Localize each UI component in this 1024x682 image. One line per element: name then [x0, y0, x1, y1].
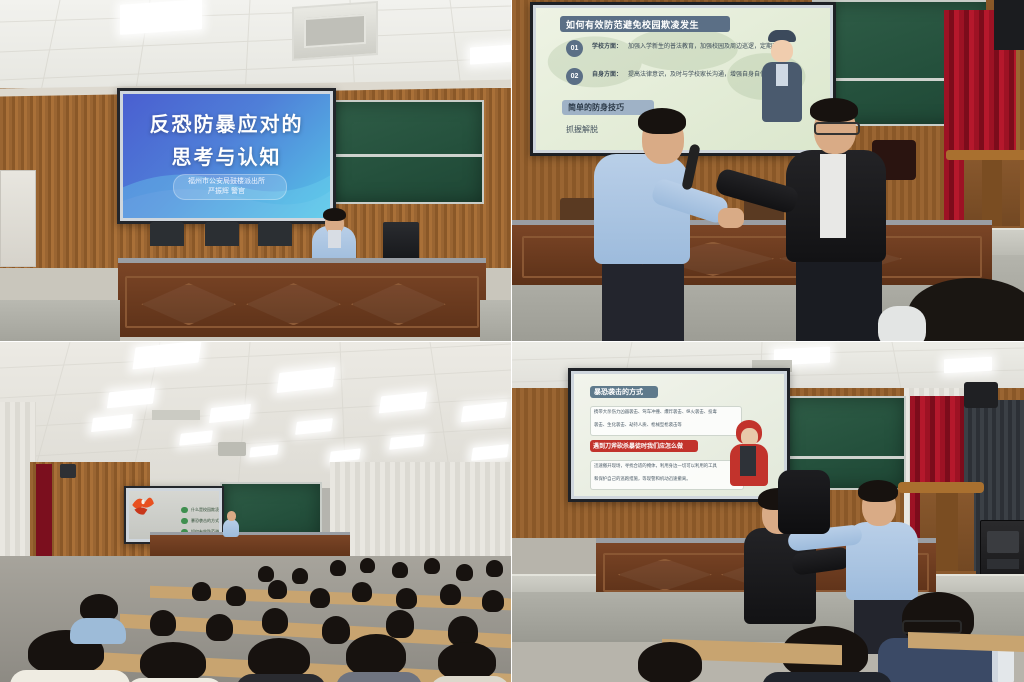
officer-leg — [602, 258, 642, 341]
student-head — [456, 564, 473, 581]
student-head — [268, 580, 287, 599]
student-foreground — [126, 642, 224, 682]
slide-title: 暴恐袭击的方式 — [594, 387, 643, 397]
student-head — [486, 560, 503, 577]
floor — [0, 300, 120, 341]
slide-bullet: 暴恐袭击的方式 — [191, 518, 219, 524]
ceiling-vent — [152, 410, 200, 420]
backpack-shield — [778, 470, 830, 534]
photo-collage: 反恐防暴应对的 思考与认知 福州市公安局鼓楼派出所 严振辉 警官 — [0, 0, 1024, 682]
volunteer-glasses — [814, 122, 860, 135]
slide-subtitle-line1: 福州市公安局鼓楼派出所 — [123, 176, 330, 186]
attacker-illustration — [728, 420, 770, 496]
student-head — [150, 610, 176, 636]
wall-monitor — [994, 0, 1024, 50]
officer-hair — [323, 208, 346, 221]
chair — [205, 222, 239, 246]
ceiling-light — [944, 357, 992, 374]
face-mask — [878, 306, 926, 341]
student-foreground — [430, 642, 510, 682]
bullet-marker — [181, 518, 188, 524]
wall-speaker — [60, 464, 76, 478]
person-officer-demonstrating — [590, 108, 740, 341]
student-head — [330, 560, 346, 576]
slide-subtitle-line2: 严振辉 警官 — [123, 186, 330, 196]
stage-curtain — [36, 464, 52, 560]
student-head — [226, 586, 246, 606]
student-head — [206, 614, 233, 641]
officer-hand — [718, 208, 744, 228]
student-head — [292, 568, 308, 584]
volunteer-hair — [810, 98, 858, 122]
slide-item-label: 自身方面： — [592, 69, 622, 78]
photo-panel-top-right: 如何有效防范避免校园欺凌发生 01 学校方面： 加强入学新生的普法教育，加强校园… — [512, 0, 1024, 341]
slide-highlight-text: 遇到刀斧砍杀暴徒时我们应怎么做 — [593, 441, 683, 450]
chair — [258, 222, 292, 246]
bullet-marker — [181, 507, 188, 513]
slide-bottom-right: 暴恐袭击的方式 携带大杀伤力凶器袭击、驾车冲撞、爆炸袭击、纵火袭击、投毒 袭击、… — [574, 374, 784, 496]
student-head — [482, 590, 504, 612]
slide-item-label: 学校方面： — [592, 41, 622, 50]
slide-body-line: 迅速撤开现场，寻找合适的掩体，利用身边一切可以利用的工具 — [594, 463, 717, 469]
floor — [480, 300, 511, 341]
slide-body-line: 携带大杀伤力凶器袭击、驾车冲撞、爆炸袭击、纵火袭击、投毒 — [594, 409, 717, 415]
student-head — [360, 558, 375, 573]
student-head — [440, 584, 461, 605]
student-head — [258, 566, 274, 582]
student-foreground — [622, 642, 718, 682]
person-speaker-distant — [222, 510, 240, 538]
ceiling-light — [120, 0, 202, 35]
ceiling-projector — [218, 442, 246, 456]
volunteer-leg — [796, 256, 838, 341]
officer-leg — [642, 260, 684, 341]
slide-title-line2: 思考与认知 — [123, 141, 330, 170]
slide-body-line: 和保护自己的逃跑措施，等现警和机动迅速撤离。 — [594, 476, 691, 482]
podium-desk — [118, 258, 486, 337]
person-volunteer — [762, 96, 902, 341]
wall-cabinet — [0, 170, 36, 267]
officer-shirt-placket — [328, 230, 341, 248]
projection-screen: 反恐防暴应对的 思考与认知 福州市公安局鼓楼派出所 严振辉 警官 — [117, 88, 336, 224]
student-midground — [70, 594, 126, 638]
student-foreground — [236, 638, 326, 682]
officer-hair — [638, 108, 686, 134]
slide-item-number: 02 — [566, 68, 583, 85]
ceiling-light — [470, 44, 511, 64]
slide-body-line: 袭击、生化袭击、劫持人质、枪械型枪袭击等 — [594, 422, 682, 428]
volunteer-leg — [838, 254, 882, 341]
officer-hair — [858, 480, 898, 502]
student-head — [392, 562, 408, 578]
slide-title-line1: 反恐防暴应对的 — [123, 108, 330, 137]
volunteer-inner-shirt — [820, 154, 846, 238]
air-conditioner-unit — [292, 1, 378, 61]
student-head — [192, 582, 211, 601]
podium-desk — [512, 220, 992, 285]
photo-panel-bottom-right: 暴恐袭击的方式 携带大杀伤力凶器袭击、驾车冲撞、爆炸袭击、纵火袭击、投毒 袭击、… — [512, 342, 1024, 682]
chalkboard — [330, 100, 484, 204]
slide-top-left: 反恐防暴应对的 思考与认知 福州市公安局鼓楼派出所 严振辉 警官 — [123, 94, 330, 218]
student-head — [396, 588, 417, 609]
slide-bullet: 什么是校园欺凌与暴力 — [191, 507, 219, 513]
slide-item-number: 01 — [566, 40, 583, 57]
student-head — [310, 588, 330, 608]
student-foreground — [336, 634, 422, 682]
desk-front-panel — [125, 276, 478, 328]
person-seated-officer — [306, 206, 362, 264]
student-head — [262, 608, 288, 634]
student-head — [424, 558, 440, 574]
photo-panel-top-left: 反恐防暴应对的 思考与认知 福州市公安局鼓楼派出所 严振辉 警官 — [0, 0, 511, 341]
chair — [150, 222, 184, 246]
photo-panel-bottom-left: 什么是校园欺凌与暴力 暴恐袭击的方式 如何有效防范避免发生 — [0, 342, 511, 682]
projection-screen: 暴恐袭击的方式 携带大杀伤力凶器袭击、驾车冲撞、爆炸袭击、纵火袭击、投毒 袭击、… — [568, 368, 790, 502]
wall-speaker — [964, 382, 998, 408]
slide-title: 如何有效防范避免校园欺凌发生 — [566, 18, 699, 31]
student-head — [352, 582, 372, 602]
